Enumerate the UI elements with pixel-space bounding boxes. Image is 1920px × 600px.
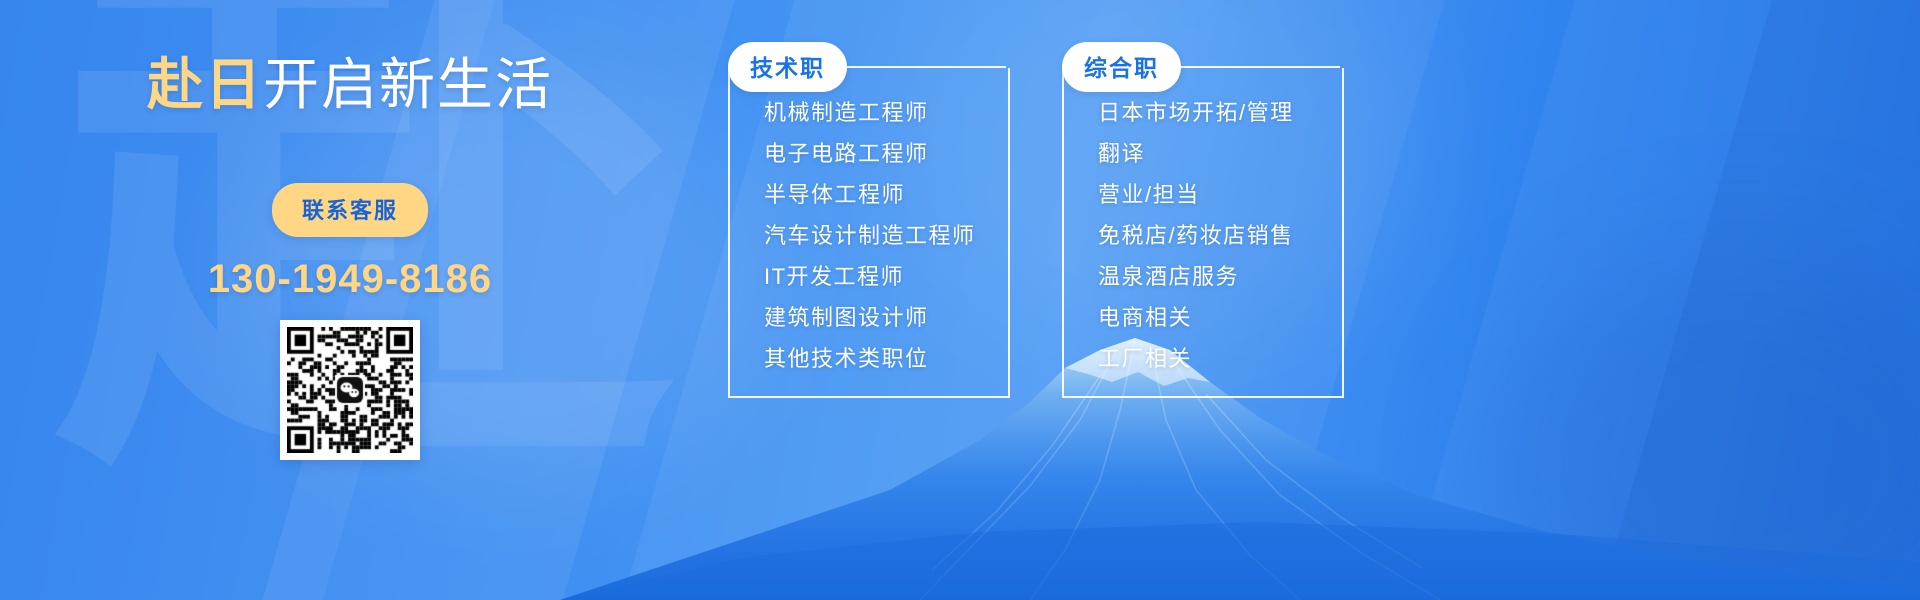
job-category-technical: 技术职 机械制造工程师 电子电路工程师 半导体工程师 汽车设计制造工程师 IT开… [728, 68, 1010, 398]
job-category-general: 综合职 日本市场开拓/管理 翻译 营业/担当 免税店/药妆店销售 温泉酒店服务 … [1062, 68, 1344, 398]
list-item[interactable]: IT开发工程师 [764, 266, 978, 288]
list-item[interactable]: 电子电路工程师 [764, 143, 978, 165]
list-item[interactable]: 翻译 [1098, 143, 1312, 165]
job-category-box: 技术职 机械制造工程师 电子电路工程师 半导体工程师 汽车设计制造工程师 IT开… [728, 68, 1010, 398]
job-category-tab-label[interactable]: 综合职 [1062, 42, 1181, 92]
list-item[interactable]: 温泉酒店服务 [1098, 266, 1312, 288]
box-top-border [1179, 66, 1340, 68]
box-top-border [845, 66, 1006, 68]
job-category-box: 综合职 日本市场开拓/管理 翻译 营业/担当 免税店/药妆店销售 温泉酒店服务 … [1062, 68, 1344, 398]
list-item[interactable]: 其他技术类职位 [764, 348, 978, 370]
list-item[interactable]: 电商相关 [1098, 307, 1312, 329]
list-item[interactable]: 免税店/药妆店销售 [1098, 225, 1312, 247]
qr-code-container[interactable] [280, 320, 420, 460]
list-item[interactable]: 营业/担当 [1098, 184, 1312, 206]
wechat-qr-code-icon[interactable] [287, 327, 413, 453]
job-category-tab-label[interactable]: 技术职 [728, 42, 847, 92]
banner-stage: 赴 [0, 0, 1920, 600]
job-list: 日本市场开拓/管理 翻译 营业/担当 免税店/药妆店销售 温泉酒店服务 电商相关… [1098, 102, 1312, 370]
phone-number: 130-1949-8186 [208, 257, 492, 302]
list-item[interactable]: 机械制造工程师 [764, 102, 978, 124]
list-item[interactable]: 汽车设计制造工程师 [764, 225, 978, 247]
list-item[interactable]: 半导体工程师 [764, 184, 978, 206]
page-title-highlight: 赴日 [147, 53, 263, 116]
list-item[interactable]: 工厂相关 [1098, 348, 1312, 370]
left-content-panel: 赴日开启新生活 联系客服 130-1949-8186 [0, 0, 700, 600]
contact-support-button[interactable]: 联系客服 [272, 183, 428, 237]
list-item[interactable]: 日本市场开拓/管理 [1098, 102, 1312, 124]
list-item[interactable]: 建筑制图设计师 [764, 307, 978, 329]
page-title-rest: 开启新生活 [263, 53, 553, 116]
page-title: 赴日开启新生活 [147, 40, 553, 121]
job-list: 机械制造工程师 电子电路工程师 半导体工程师 汽车设计制造工程师 IT开发工程师… [764, 102, 978, 370]
